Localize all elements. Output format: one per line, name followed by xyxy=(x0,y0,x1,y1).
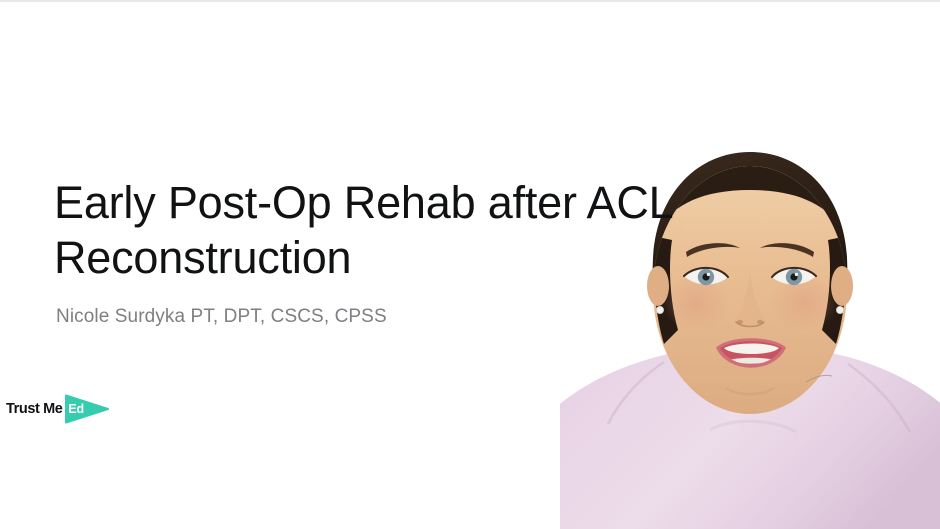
presentation-slide: Early Post-Op Rehab after ACL Reconstruc… xyxy=(0,0,940,529)
logo-wordmark: Trust Me xyxy=(6,401,62,417)
logo-badge-text: Ed xyxy=(68,402,84,416)
title-block: Early Post-Op Rehab after ACL Reconstruc… xyxy=(54,176,674,328)
play-triangle-icon: Ed xyxy=(65,394,109,424)
trust-me-ed-logo[interactable]: Trust Me Ed xyxy=(6,392,109,426)
page-title: Early Post-Op Rehab after ACL Reconstruc… xyxy=(54,176,674,286)
presenter-byline: Nicole Surdyka PT, DPT, CSCS, CPSS xyxy=(56,306,674,328)
slide-top-edge xyxy=(0,0,940,2)
presenter-earring-right xyxy=(836,306,843,313)
